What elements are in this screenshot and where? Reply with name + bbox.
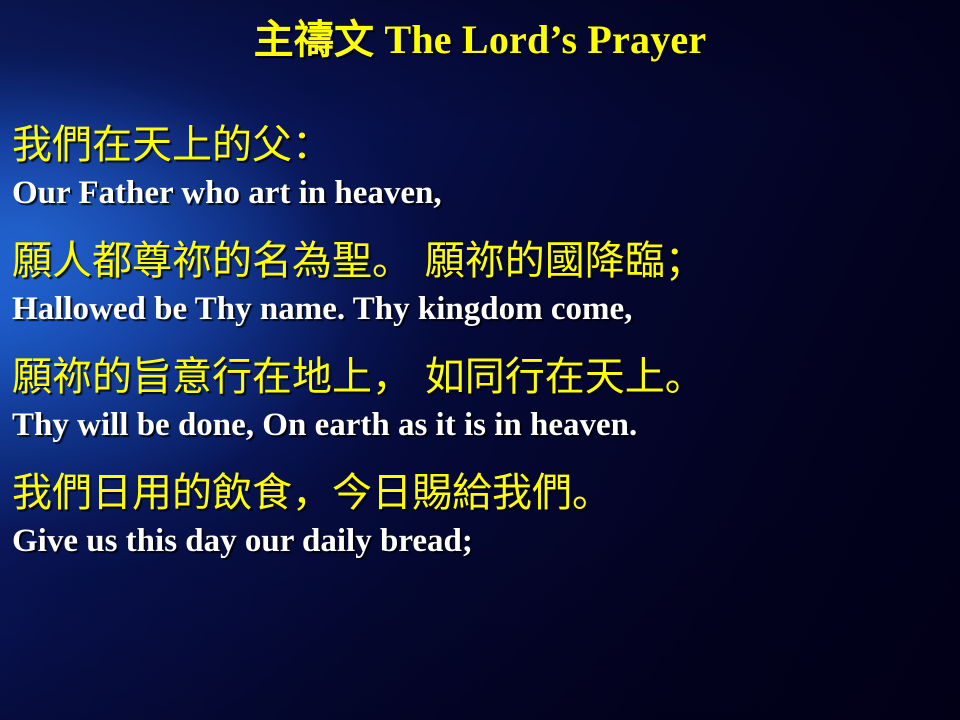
prayer-stanza: 我們日用的飲食，今日賜給我們。 Give us this day our dai…	[12, 466, 956, 562]
presentation-slide: 主禱文 The Lord’s Prayer 我們在天上的父： Our Fathe…	[0, 0, 960, 720]
prayer-line-english: Thy will be done, On earth as it is in h…	[12, 404, 956, 446]
prayer-stanza: 願人都尊祢的名為聖。 願祢的國降臨； Hallowed be Thy name.…	[12, 234, 956, 330]
prayer-body: 我們在天上的父： Our Father who art in heaven, 願…	[12, 118, 956, 562]
prayer-line-chinese: 願祢的旨意行在地上， 如同行在天上。	[12, 350, 956, 404]
prayer-line-chinese: 我們在天上的父：	[12, 118, 956, 172]
prayer-stanza: 願祢的旨意行在地上， 如同行在天上。 Thy will be done, On …	[12, 350, 956, 446]
prayer-line-english: Hallowed be Thy name. Thy kingdom come,	[12, 288, 956, 330]
prayer-line-chinese: 我們日用的飲食，今日賜給我們。	[12, 466, 956, 520]
slide-title: 主禱文 The Lord’s Prayer	[0, 16, 960, 64]
prayer-line-english: Give us this day our daily bread;	[12, 520, 956, 562]
prayer-line-english: Our Father who art in heaven,	[12, 172, 956, 214]
slide-content: 主禱文 The Lord’s Prayer 我們在天上的父： Our Fathe…	[0, 0, 960, 720]
prayer-line-chinese: 願人都尊祢的名為聖。 願祢的國降臨；	[12, 234, 956, 288]
prayer-stanza: 我們在天上的父： Our Father who art in heaven,	[12, 118, 956, 214]
